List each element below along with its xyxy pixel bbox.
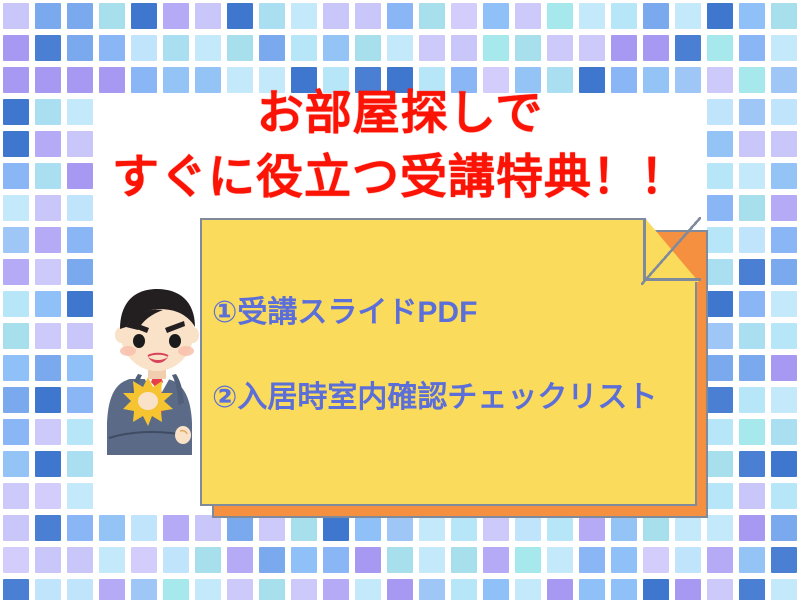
mosaic-tile [739,3,765,29]
mosaic-tile [3,35,29,61]
mosaic-tile [35,323,61,349]
mosaic-tile [163,35,189,61]
mosaic-tile [355,579,381,600]
note-item-1: ①受講スライドPDF [212,287,477,331]
mosaic-tile [611,579,637,600]
mosaic-tile [611,3,637,29]
mosaic-tile [163,547,189,573]
mosaic-tile [387,3,413,29]
mosaic-tile [643,35,669,61]
mosaic-tile [35,419,61,445]
mosaic-tile [483,35,509,61]
mosaic-tile [67,323,93,349]
note-item-2: ②入居時室内確認チェックリスト [212,372,657,416]
mosaic-tile [355,35,381,61]
mosaic-tile [771,323,797,349]
mosaic-tile [675,35,701,61]
mosaic-tile [67,259,93,285]
hand [175,426,191,444]
mosaic-tile [35,291,61,317]
mosaic-tile [131,579,157,600]
mosaic-tile [771,227,797,253]
mosaic-tile [35,387,61,413]
mosaic-tile [3,355,29,381]
mosaic-tile [35,579,61,600]
mosaic-tile [35,259,61,285]
mosaic-tile [67,387,93,413]
mosaic-tile [67,227,93,253]
mosaic-tile [419,3,445,29]
mosaic-tile [739,579,765,600]
mosaic-tile [771,483,797,509]
mosaic-tile [3,419,29,445]
mosaic-tile [515,3,541,29]
note-front-sheet: ①受講スライドPDF ②入居時室内確認チェックリスト [200,218,697,506]
mosaic-tile [35,483,61,509]
mosaic-tile [483,3,509,29]
mosaic-tile [35,355,61,381]
note-fold-horizontal-edge [643,278,701,281]
mosaic-tile [547,35,573,61]
mosaic-tile [131,3,157,29]
mosaic-tile [291,547,317,573]
mosaic-tile [163,515,189,541]
mosaic-tile [771,259,797,285]
mosaic-tile [579,547,605,573]
mosaic-tile [739,515,765,541]
mosaic-tile [3,3,29,29]
mosaic-tile [259,547,285,573]
mosaic-tile [195,3,221,29]
mosaic-tile [675,547,701,573]
mosaic-tile [3,515,29,541]
head [115,289,199,371]
mosaic-tile [739,35,765,61]
mosaic-tile [771,3,797,29]
mosaic-tile [547,3,573,29]
mosaic-tile [195,35,221,61]
mosaic-tile [163,579,189,600]
mosaic-tile [739,323,765,349]
mosaic-tile [707,3,733,29]
mosaic-tile [419,35,445,61]
mosaic-tile [771,35,797,61]
mosaic-tile [195,579,221,600]
mosaic-tile [355,547,381,573]
businessman-illustration [100,283,215,463]
mosaic-tile [99,515,125,541]
mosaic-tile [739,547,765,573]
mosaic-tile [227,3,253,29]
mosaic-tile [291,579,317,600]
mosaic-tile [3,579,29,600]
mosaic-tile [291,3,317,29]
mosaic-tile [771,579,797,600]
mosaic-tile [35,3,61,29]
mosaic-tile [451,3,477,29]
mosaic-tile [259,35,285,61]
mosaic-tile [611,547,637,573]
mosaic-tile [195,547,221,573]
mosaic-tile [419,547,445,573]
mosaic-tile [291,35,317,61]
mosaic-tile [35,227,61,253]
mosaic-tile [771,419,797,445]
mosaic-tile [387,547,413,573]
mosaic-tile [611,35,637,61]
mosaic-tile [131,515,157,541]
mosaic-tile [547,547,573,573]
mosaic-tile [35,35,61,61]
mosaic-tile [387,579,413,600]
mosaic-tile [739,483,765,509]
mosaic-tile [67,291,93,317]
mosaic-tile [3,227,29,253]
mosaic-tile [99,579,125,600]
mosaic-tile [35,515,61,541]
mosaic-tile [67,579,93,600]
mosaic-tile [675,579,701,600]
mosaic-tile [67,355,93,381]
mosaic-tile [451,579,477,600]
mosaic-tile [323,579,349,600]
mosaic-tile [739,419,765,445]
mosaic-tile [483,547,509,573]
mosaic-tile [387,35,413,61]
mosaic-tile [3,483,29,509]
mosaic-tile [259,579,285,600]
mosaic-tile [515,35,541,61]
mosaic-tile [771,547,797,573]
mosaic-tile [323,3,349,29]
mosaic-tile [67,515,93,541]
title-line-2: すぐに役立つ受講特典！！ [0,152,800,202]
note-card-stack: ①受講スライドPDF ②入居時室内確認チェックリスト [200,218,720,523]
mosaic-tile [131,547,157,573]
mosaic-tile [579,579,605,600]
mosaic-tile [323,35,349,61]
mosaic-tile [3,323,29,349]
mosaic-tile [3,387,29,413]
mosaic-tile [643,579,669,600]
mosaic-tile [771,291,797,317]
mosaic-tile [259,3,285,29]
mosaic-tile [3,547,29,573]
mosaic-tile [771,515,797,541]
mosaic-tile [99,35,125,61]
mosaic-tile [579,35,605,61]
mosaic-tile [3,451,29,477]
mosaic-tile [67,419,93,445]
mosaic-tile [707,579,733,600]
mosaic-tile [771,451,797,477]
mosaic-tile [483,579,509,600]
mosaic-tile [99,547,125,573]
mosaic-tile [739,259,765,285]
mosaic-tile [547,579,573,600]
mosaic-tile [707,547,733,573]
mosaic-tile [451,547,477,573]
mosaic-tile [771,355,797,381]
mosaic-tile [227,579,253,600]
mosaic-tile [515,547,541,573]
mosaic-tile [227,547,253,573]
mosaic-tile [131,35,157,61]
mosaic-tile [67,451,93,477]
mosaic-tile [451,35,477,61]
mosaic-tile [419,579,445,600]
mosaic-tile [643,547,669,573]
slide-canvas: お部屋探しで すぐに役立つ受講特典！！ [0,0,800,600]
mosaic-tile [67,483,93,509]
mosaic-tile [99,3,125,29]
mosaic-tile [707,35,733,61]
mosaic-tile [739,227,765,253]
mosaic-tile [35,451,61,477]
mosaic-tile [515,579,541,600]
note-fold-diagonal-edge [641,217,701,285]
mosaic-tile [739,291,765,317]
mosaic-tile [355,3,381,29]
mosaic-tile [227,35,253,61]
mosaic-tile [739,451,765,477]
mosaic-tile [163,3,189,29]
mosaic-tile [3,291,29,317]
mosaic-tile [323,547,349,573]
mosaic-tile [739,387,765,413]
mosaic-tile [675,3,701,29]
mosaic-tile [579,3,605,29]
mosaic-tile [67,35,93,61]
title-line-1: お部屋探しで [0,88,800,138]
mosaic-tile [35,547,61,573]
mosaic-tile [771,387,797,413]
mosaic-tile [739,355,765,381]
mosaic-tile [67,547,93,573]
mosaic-tile [67,3,93,29]
note-fold-vertical-edge [643,218,646,281]
mosaic-tile [643,3,669,29]
mosaic-tile [3,259,29,285]
